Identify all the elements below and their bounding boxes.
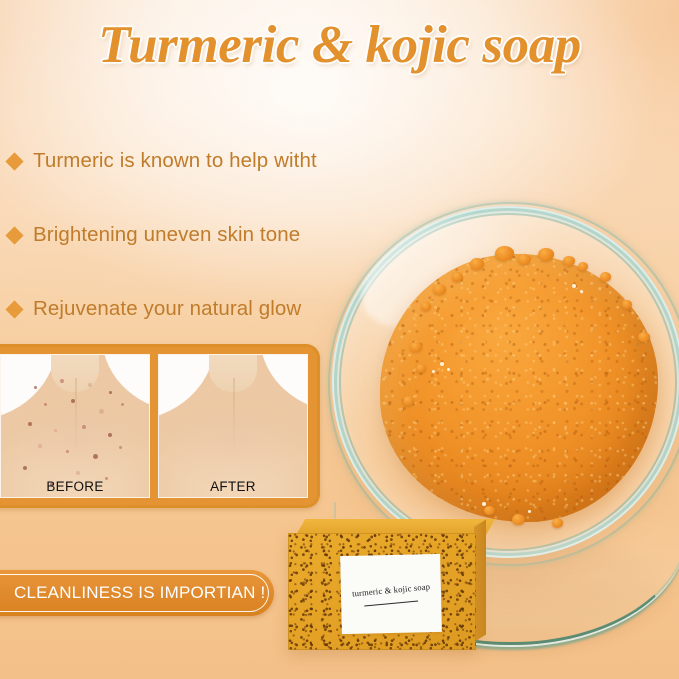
benefit-item: Turmeric is known to help witht: [6, 124, 426, 198]
blemish-spot: [108, 433, 112, 437]
diamond-bullet-icon: [5, 300, 23, 318]
after-skin-image: [159, 355, 307, 497]
diamond-bullet-icon: [5, 226, 23, 244]
soap-label: turmeric & kojic soap: [340, 554, 442, 634]
product-poster: turmeric & kojic soap Turmeric & kojic s…: [0, 0, 679, 679]
soap-bar-image: turmeric & kojic soap: [288, 519, 486, 650]
page-title: Turmeric & kojic soap: [0, 16, 679, 75]
soap-label-rule: [364, 600, 418, 606]
before-skin-image: [1, 355, 149, 497]
blemish-spot: [109, 391, 112, 394]
skin-tone-overlay: [159, 355, 307, 497]
before-caption: BEFORE: [1, 479, 149, 494]
blemish-spot: [71, 399, 75, 403]
benefit-item: Rejuvenate your natural glow: [6, 272, 426, 346]
blemish-spot: [99, 409, 104, 414]
benefit-item-label: Rejuvenate your natural glow: [33, 297, 301, 321]
benefit-list: Turmeric is known to help witht Brighten…: [6, 124, 426, 346]
benefit-item: Brightening uneven skin tone: [6, 198, 426, 272]
diamond-bullet-icon: [5, 152, 23, 170]
banner-text: CLEANLINESS IS IMPORTIAN !: [0, 583, 265, 603]
powder-sprinkle: [528, 510, 531, 513]
skin-tone-overlay: [1, 355, 149, 497]
after-caption: AFTER: [159, 479, 307, 494]
powder-sprinkle: [482, 502, 486, 506]
powder-sprinkle: [572, 284, 576, 288]
powder-sprinkle: [440, 362, 444, 366]
blemish-spot: [34, 386, 37, 389]
powder-sprinkle: [447, 368, 450, 371]
powder-sprinkle: [580, 290, 583, 293]
powder-sprinkle: [432, 370, 435, 373]
after-photo-panel: AFTER: [158, 354, 308, 498]
cleanliness-banner: CLEANLINESS IS IMPORTIAN !: [0, 570, 274, 616]
soap-front-face: turmeric & kojic soap: [288, 533, 476, 650]
blemish-spot: [23, 466, 27, 470]
before-after-frame: BEFORE AFTER: [0, 344, 320, 508]
before-photo-panel: BEFORE: [0, 354, 150, 498]
benefit-item-label: Brightening uneven skin tone: [33, 223, 300, 247]
benefit-item-label: Turmeric is known to help witht: [33, 149, 317, 173]
blemish-spot: [28, 422, 32, 426]
soap-label-text: turmeric & kojic soap: [351, 581, 430, 598]
